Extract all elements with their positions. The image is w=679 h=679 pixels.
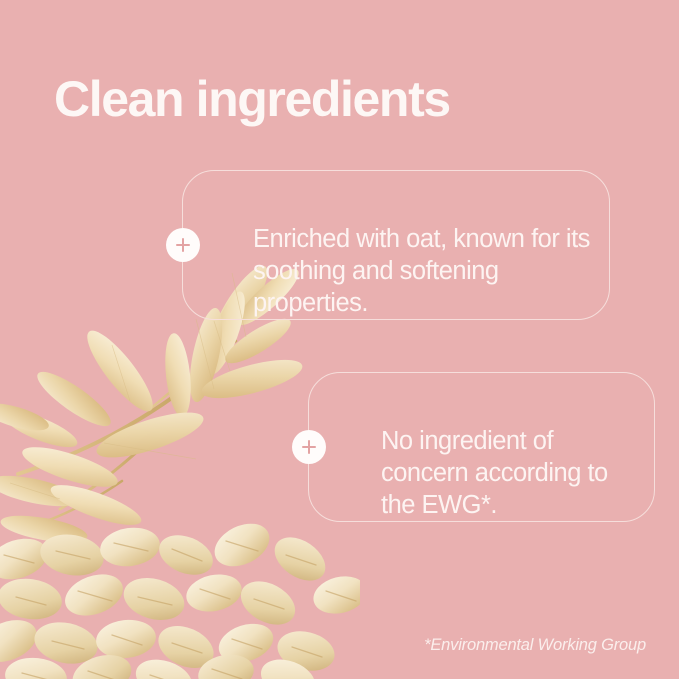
oat-imagery [0, 259, 360, 679]
page-title: Clean ingredients [54, 70, 450, 128]
plus-badge [166, 228, 200, 262]
claim-text: Enriched with oat, known for its soothin… [253, 223, 593, 319]
claim-card: Enriched with oat, known for its soothin… [182, 170, 610, 320]
footnote: *Environmental Working Group [424, 636, 646, 655]
plus-icon [292, 430, 326, 464]
claim-card: No ingredient of concern according to th… [308, 372, 655, 522]
plus-badge [292, 430, 326, 464]
promo-graphic: Clean ingredients Enriched with oat, kno… [0, 0, 679, 679]
claim-text: No ingredient of concern according to th… [381, 425, 646, 521]
plus-icon [166, 228, 200, 262]
